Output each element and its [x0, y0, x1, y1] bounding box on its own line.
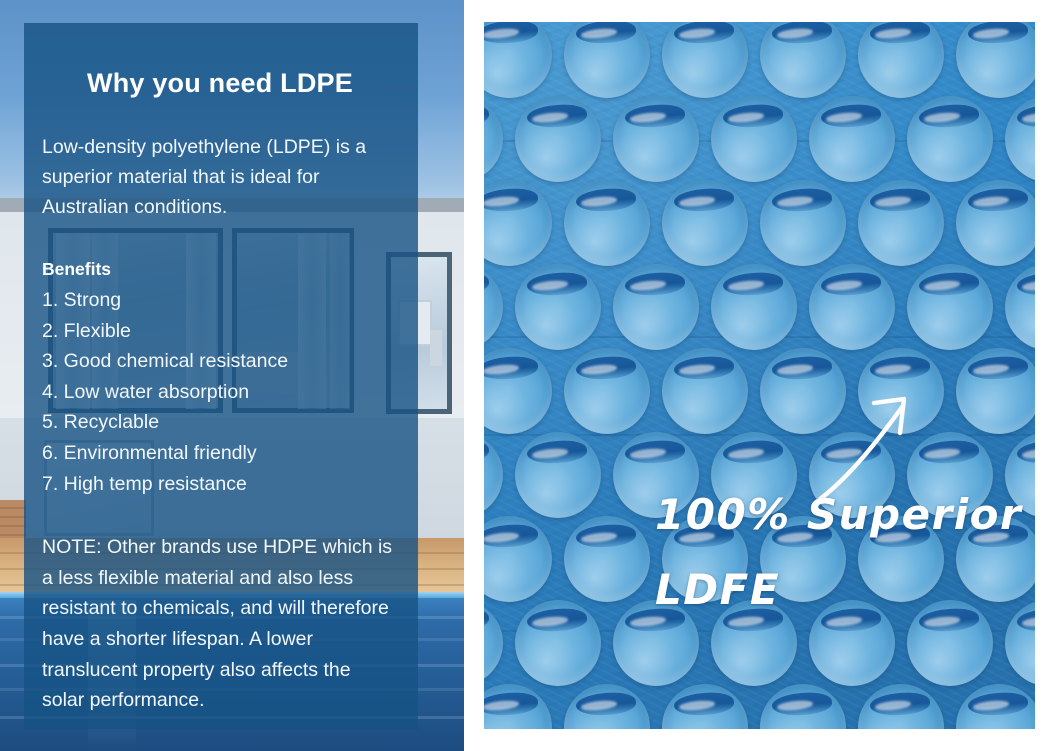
bubble [515, 264, 601, 350]
benefits-list: 1. Strong 2. Flexible 3. Good chemical r… [42, 285, 398, 499]
annotation-superior-text: 100% Superior [655, 490, 1022, 539]
list-item: 3. Good chemical resistance [42, 346, 398, 377]
bubble [662, 348, 748, 434]
list-item: 5. Recyclable [42, 407, 398, 438]
list-item: 4. Low water absorption [42, 377, 398, 408]
bubble [613, 264, 699, 350]
bubble-cover-photo: 100% Superior LDFE [484, 22, 1035, 729]
bubble [760, 348, 846, 434]
bubble [515, 96, 601, 182]
bubble [613, 96, 699, 182]
bubble [711, 264, 797, 350]
bubble [564, 180, 650, 266]
bubble [907, 600, 993, 686]
bubble [564, 348, 650, 434]
bubble [956, 348, 1035, 434]
list-item: 7. High temp resistance [42, 469, 398, 500]
bubble [809, 96, 895, 182]
bubble [564, 516, 650, 602]
bubble [858, 180, 944, 266]
page-root: Why you need LDPE Low-density polyethyle… [0, 0, 1050, 751]
bubble [515, 432, 601, 518]
bubble [809, 264, 895, 350]
page-title: Why you need LDPE [42, 68, 398, 99]
note-paragraph: NOTE: Other brands use HDPE which is a l… [42, 532, 398, 716]
bubble [858, 348, 944, 434]
bubble [662, 180, 748, 266]
ldpe-info-panel: Why you need LDPE Low-density polyethyle… [24, 23, 418, 729]
bubble [907, 264, 993, 350]
list-item: 1. Strong [42, 285, 398, 316]
bubble [907, 96, 993, 182]
bubble [760, 180, 846, 266]
bubble [711, 96, 797, 182]
interior-lamp [430, 330, 442, 366]
benefits-heading: Benefits [42, 259, 398, 280]
annotation-ldfe-text: LDFE [655, 565, 780, 614]
list-item: 2. Flexible [42, 316, 398, 347]
intro-paragraph: Low-density polyethylene (LDPE) is a sup… [42, 132, 398, 222]
bubble [809, 600, 895, 686]
list-item: 6. Environmental friendly [42, 438, 398, 469]
bubble [956, 180, 1035, 266]
bubble [515, 600, 601, 686]
